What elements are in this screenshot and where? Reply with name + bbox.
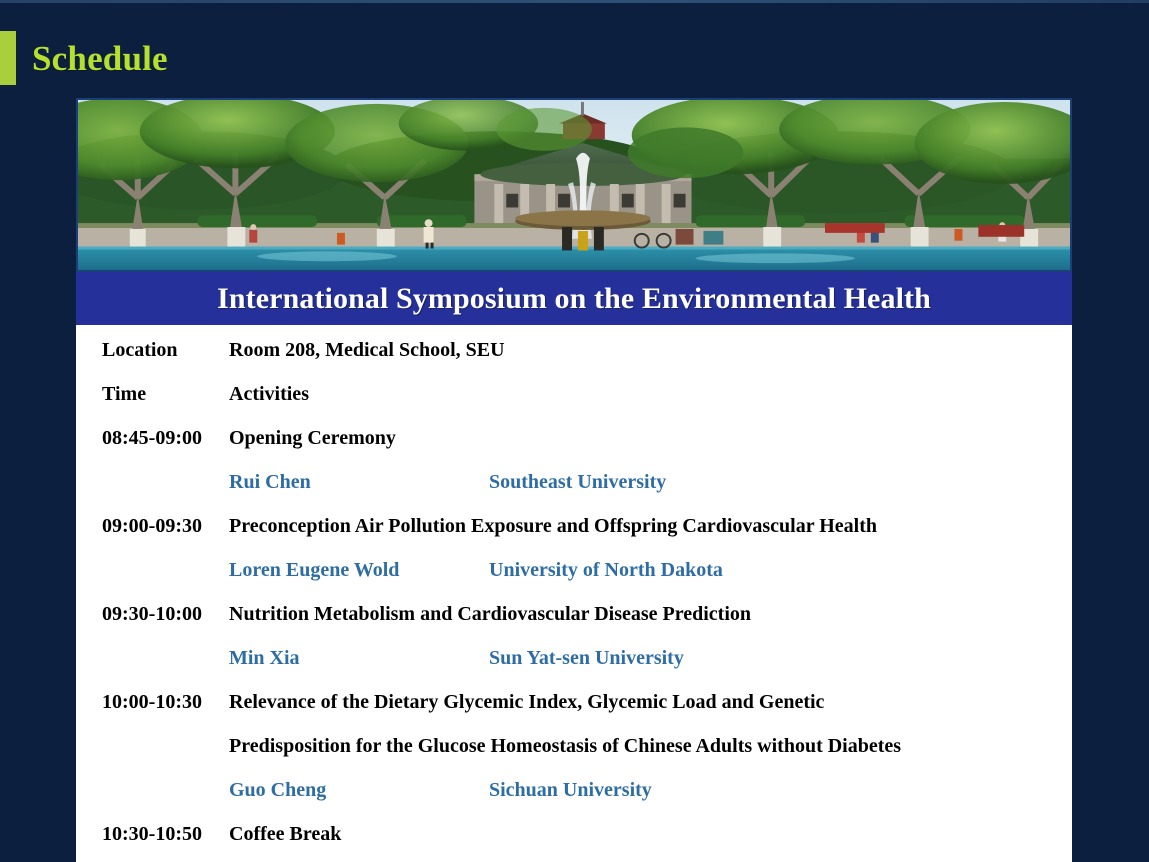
- row-activity: Room 208, Medical School, SEU: [229, 339, 505, 362]
- speaker-name: Rui Chen: [229, 471, 489, 494]
- symposium-title: International Symposium on the Environme…: [217, 282, 931, 316]
- speaker-affiliation: Sichuan University: [489, 779, 652, 802]
- speaker-affiliation: University of North Dakota: [489, 559, 723, 582]
- table-row: 10:30-10:50 Coffee Break: [76, 823, 1072, 862]
- content-card: International Symposium on the Environme…: [76, 98, 1072, 848]
- row-time: 08:45-09:00: [76, 427, 229, 450]
- row-activity: Opening Ceremony: [229, 427, 396, 450]
- row-speaker: Rui ChenSoutheast University: [229, 471, 666, 494]
- title-accent-bar: [0, 31, 16, 85]
- row-activity: Predisposition for the Glucose Homeostas…: [229, 735, 901, 758]
- symposium-banner: International Symposium on the Environme…: [76, 272, 1072, 325]
- row-speaker: Guo ChengSichuan University: [229, 779, 652, 802]
- row-time: 10:30-10:50: [76, 823, 229, 846]
- table-row: Time Activities: [76, 383, 1072, 427]
- schedule-table: Location Room 208, Medical School, SEU T…: [76, 325, 1072, 862]
- table-row: 09:30-10:00 Nutrition Metabolism and Car…: [76, 603, 1072, 647]
- row-time: Time: [76, 383, 229, 406]
- campus-photo: [76, 98, 1072, 272]
- table-row-speaker: Min XiaSun Yat-sen University: [76, 647, 1072, 691]
- speaker-name: Min Xia: [229, 647, 489, 670]
- table-row: 10:00-10:30 Relevance of the Dietary Gly…: [76, 691, 1072, 735]
- row-activity: Nutrition Metabolism and Cardiovascular …: [229, 603, 751, 626]
- row-activity: Activities: [229, 383, 309, 406]
- table-row: Location Room 208, Medical School, SEU: [76, 339, 1072, 383]
- row-speaker: Min XiaSun Yat-sen University: [229, 647, 684, 670]
- row-activity: Relevance of the Dietary Glycemic Index,…: [229, 691, 824, 714]
- speaker-name: Guo Cheng: [229, 779, 489, 802]
- page-title: Schedule: [32, 41, 168, 76]
- row-time: Location: [76, 339, 229, 362]
- row-time: 09:00-09:30: [76, 515, 229, 538]
- table-row-continuation: Predisposition for the Glucose Homeostas…: [76, 735, 1072, 779]
- table-row-speaker: Loren Eugene WoldUniversity of North Dak…: [76, 559, 1072, 603]
- speaker-name: Loren Eugene Wold: [229, 559, 489, 582]
- slide: Schedule: [0, 0, 1149, 862]
- table-row: 08:45-09:00 Opening Ceremony: [76, 427, 1072, 471]
- row-speaker: Loren Eugene WoldUniversity of North Dak…: [229, 559, 723, 582]
- row-time: 10:00-10:30: [76, 691, 229, 714]
- campus-photo-illustration: [78, 100, 1070, 270]
- speaker-affiliation: Sun Yat-sen University: [489, 647, 684, 670]
- row-time: 09:30-10:00: [76, 603, 229, 626]
- row-activity: Coffee Break: [229, 823, 341, 846]
- speaker-affiliation: Southeast University: [489, 471, 666, 494]
- slide-title-bar: Schedule: [0, 30, 168, 86]
- row-activity: Preconception Air Pollution Exposure and…: [229, 515, 877, 538]
- table-row-speaker: Guo ChengSichuan University: [76, 779, 1072, 823]
- table-row: 09:00-09:30 Preconception Air Pollution …: [76, 515, 1072, 559]
- table-row-speaker: Rui ChenSoutheast University: [76, 471, 1072, 515]
